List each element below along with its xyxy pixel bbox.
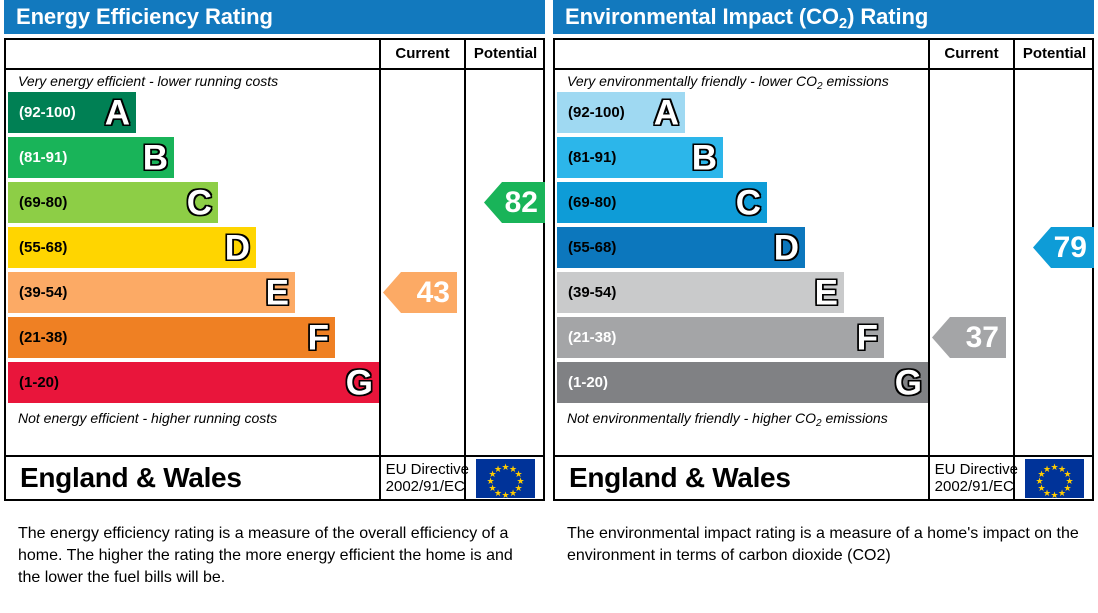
- band-d: (55-68) D: [8, 227, 256, 268]
- band-f: (21-38) F: [8, 317, 335, 358]
- band-range-a: (92-100): [557, 104, 625, 121]
- eu-directive-line1: EU Directive: [386, 461, 469, 478]
- chart-title-environmental: Environmental Impact (CO2) Rating: [553, 0, 1094, 34]
- band-b: (81-91) B: [557, 137, 723, 178]
- column-header-potential: Potential: [466, 40, 545, 68]
- potential-rating-arrow: 79: [1033, 227, 1094, 268]
- current-rating-arrow: 37: [932, 317, 1006, 358]
- energy-description-text: The energy efficiency rating is a measur…: [18, 523, 538, 589]
- environmental-impact-rating-chart: Environmental Impact (CO2) Rating Curren…: [553, 0, 1094, 501]
- band-d: (55-68) D: [557, 227, 805, 268]
- chart-title-text-suffix: ) Rating: [847, 4, 928, 29]
- band-range-c: (69-80): [8, 194, 67, 211]
- band-range-g: (1-20): [557, 374, 608, 391]
- top-caption-subscript: 2: [817, 81, 823, 92]
- band-letter-a: A: [105, 95, 130, 130]
- band-range-b: (81-91): [8, 149, 67, 166]
- band-g: (1-20) G: [8, 362, 379, 403]
- band-letter-f: F: [308, 320, 329, 355]
- band-letter-d: D: [774, 230, 799, 265]
- footer-row-environmental: England & Wales EU Directive 2002/91/EC …: [555, 455, 1092, 499]
- band-range-f: (21-38): [8, 329, 67, 346]
- footer-row-energy: England & Wales EU Directive 2002/91/EC …: [6, 455, 543, 499]
- bottom-caption-subscript: 2: [816, 418, 822, 429]
- bottom-caption-part1: Not environmentally friendly - higher CO: [567, 410, 816, 426]
- chart-header-row: Current Potential: [6, 40, 543, 70]
- current-rating-column: 43: [381, 70, 464, 455]
- band-range-a: (92-100): [8, 104, 76, 121]
- band-range-e: (39-54): [8, 284, 67, 301]
- bottom-caption-part2: emissions: [822, 410, 888, 426]
- band-letter-c: C: [736, 185, 761, 220]
- band-range-g: (1-20): [8, 374, 59, 391]
- eu-flag-icon: ★ ★ ★ ★ ★ ★ ★ ★ ★ ★ ★ ★: [1025, 459, 1084, 498]
- band-range-f: (21-38): [557, 329, 616, 346]
- band-letter-d: D: [225, 230, 250, 265]
- band-letter-e: E: [266, 275, 289, 310]
- column-header-current: Current: [381, 40, 464, 68]
- current-rating-arrow: 43: [383, 272, 457, 313]
- band-g: (1-20) G: [557, 362, 928, 403]
- band-range-d: (55-68): [557, 239, 616, 256]
- bands-area-energy: Very energy efficient - lower running co…: [6, 70, 379, 455]
- band-letter-e: E: [815, 275, 838, 310]
- band-letter-b: B: [143, 140, 168, 175]
- top-caption: Very energy efficient - lower running co…: [6, 70, 379, 92]
- potential-rating-arrow: 82: [484, 182, 545, 223]
- band-letter-b: B: [692, 140, 717, 175]
- chart-frame-energy: Current Potential Very energy efficient …: [4, 38, 545, 501]
- band-e: (39-54) E: [557, 272, 844, 313]
- band-b: (81-91) B: [8, 137, 174, 178]
- top-caption: Very environmentally friendly - lower CO…: [555, 70, 928, 92]
- band-list: (92-100) A (81-91) B (69-80) C (55-68) D: [555, 92, 928, 403]
- band-a: (92-100) A: [8, 92, 136, 133]
- bands-area-environmental: Very environmentally friendly - lower CO…: [555, 70, 928, 455]
- top-caption-part1: Very environmentally friendly - lower CO: [567, 73, 817, 89]
- column-header-potential: Potential: [1015, 40, 1094, 68]
- chart-frame-environmental: Current Potential Very environmentally f…: [553, 38, 1094, 501]
- footer-region-label: England & Wales: [6, 462, 386, 494]
- band-range-d: (55-68): [8, 239, 67, 256]
- band-letter-a: A: [654, 95, 679, 130]
- chart-header-row: Current Potential: [555, 40, 1092, 70]
- band-c: (69-80) C: [557, 182, 767, 223]
- energy-efficiency-rating-chart: Energy Efficiency Rating Current Potenti…: [4, 0, 545, 501]
- band-letter-f: F: [857, 320, 878, 355]
- band-letter-g: G: [895, 365, 922, 400]
- column-header-current: Current: [930, 40, 1013, 68]
- eu-directive-label: EU Directive 2002/91/EC: [386, 461, 476, 495]
- bottom-caption: Not energy efficient - higher running co…: [6, 407, 379, 429]
- bottom-caption: Not environmentally friendly - higher CO…: [555, 407, 928, 429]
- band-range-e: (39-54): [557, 284, 616, 301]
- band-letter-g: G: [346, 365, 373, 400]
- eu-directive-line2: 2002/91/EC: [386, 478, 469, 495]
- eu-directive-label: EU Directive 2002/91/EC: [935, 461, 1025, 495]
- chart-title-energy: Energy Efficiency Rating: [4, 0, 545, 34]
- chart-title-text-main: Environmental Impact (CO: [565, 4, 839, 29]
- chart-title-text: Energy Efficiency Rating: [16, 4, 273, 29]
- eu-directive-line2: 2002/91/EC: [935, 478, 1018, 495]
- top-caption-part2: emissions: [823, 73, 889, 89]
- eu-flag-icon: ★ ★ ★ ★ ★ ★ ★ ★ ★ ★ ★ ★: [476, 459, 535, 498]
- potential-rating-column: 82: [466, 70, 545, 455]
- band-list: (92-100) A (81-91) B (69-80) C (55-68) D: [6, 92, 379, 403]
- band-c: (69-80) C: [8, 182, 218, 223]
- environmental-description-text: The environmental impact rating is a mea…: [567, 523, 1087, 567]
- chart-title-subscript: 2: [839, 15, 847, 32]
- band-range-c: (69-80): [557, 194, 616, 211]
- band-letter-c: C: [187, 185, 212, 220]
- band-f: (21-38) F: [557, 317, 884, 358]
- eu-directive-line1: EU Directive: [935, 461, 1018, 478]
- band-a: (92-100) A: [557, 92, 685, 133]
- band-e: (39-54) E: [8, 272, 295, 313]
- band-range-b: (81-91): [557, 149, 616, 166]
- epc-charts-page: Energy Efficiency Rating Current Potenti…: [0, 0, 1098, 613]
- current-rating-column: 37: [930, 70, 1013, 455]
- potential-rating-column: 79: [1015, 70, 1094, 455]
- footer-region-label: England & Wales: [555, 462, 935, 494]
